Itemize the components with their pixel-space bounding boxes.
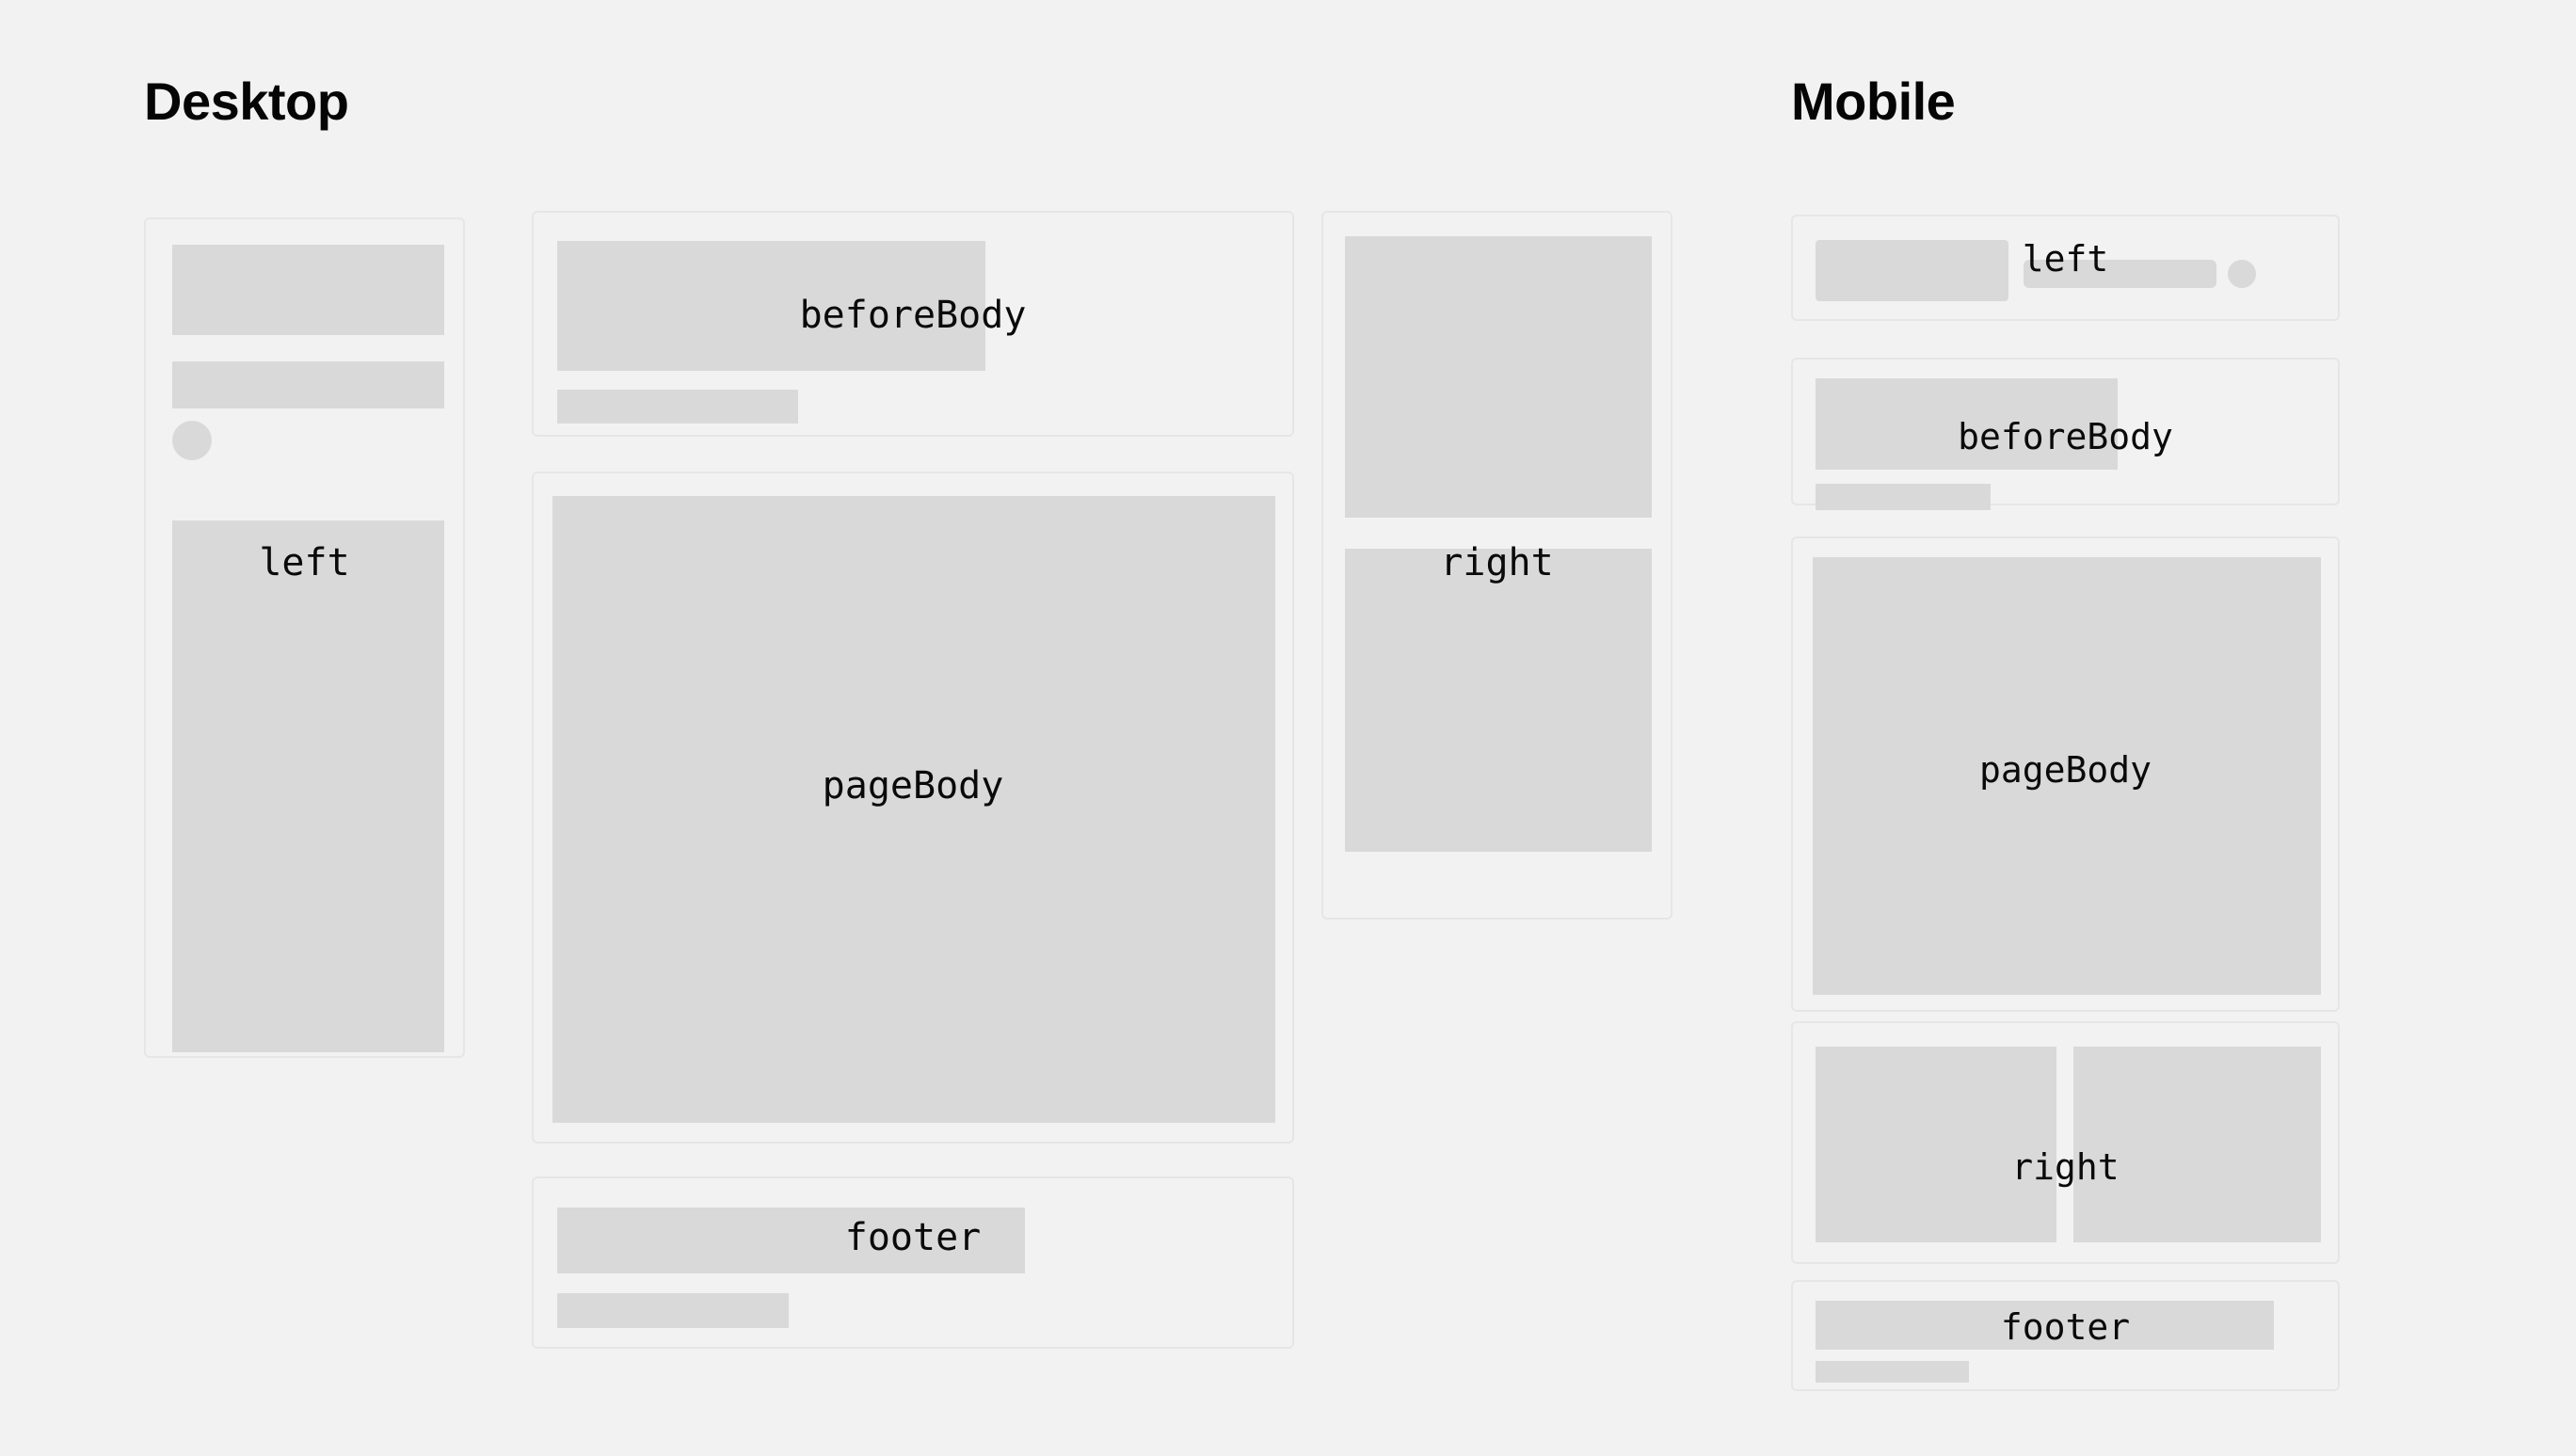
mobile-footer-slot-card[interactable] — [1791, 1280, 2340, 1391]
desktop-footer-slot-card[interactable] — [532, 1176, 1294, 1349]
skeleton-block-bar — [172, 361, 444, 408]
skeleton-block-fill — [1813, 557, 2321, 995]
desktop-right-slot-card[interactable] — [1321, 211, 1672, 920]
skeleton-block-left — [1816, 1047, 2056, 1242]
skeleton-block-right — [2073, 1047, 2321, 1242]
mobile-beforebody-slot-card[interactable] — [1791, 358, 2340, 505]
skeleton-block-wide — [557, 1208, 1025, 1273]
skeleton-block-bottom — [1345, 549, 1652, 852]
skeleton-block-narrow — [1816, 484, 1991, 510]
desktop-pagebody-slot-card[interactable] — [532, 472, 1294, 1144]
skeleton-avatar-circle-icon — [172, 421, 212, 460]
mobile-pagebody-slot-card[interactable] — [1791, 536, 2340, 1012]
skeleton-block-bar — [2024, 260, 2216, 288]
skeleton-block-narrow — [557, 1293, 789, 1328]
skeleton-block-top — [1345, 236, 1652, 518]
mobile-right-slot-card[interactable] — [1791, 1021, 2340, 1264]
skeleton-block-fill — [552, 496, 1275, 1123]
mobile-section-title: Mobile — [1791, 75, 1955, 128]
skeleton-block-large — [172, 245, 444, 335]
skeleton-avatar-circle-icon — [2228, 260, 2256, 288]
skeleton-block-wide — [1816, 378, 2118, 470]
skeleton-block-wide — [557, 241, 985, 371]
layout-preview-stage: Desktop left beforeBody pageBody right f… — [0, 0, 2576, 1456]
skeleton-block-narrow — [557, 390, 798, 424]
desktop-beforebody-slot-card[interactable] — [532, 211, 1294, 437]
skeleton-block-large — [1816, 240, 2008, 301]
skeleton-block-tall — [172, 520, 444, 1052]
desktop-left-slot-card[interactable] — [144, 217, 465, 1058]
skeleton-block-narrow — [1816, 1361, 1969, 1383]
skeleton-block-wide — [1816, 1301, 2274, 1350]
mobile-left-slot-card[interactable] — [1791, 215, 2340, 321]
desktop-section-title: Desktop — [144, 75, 348, 128]
